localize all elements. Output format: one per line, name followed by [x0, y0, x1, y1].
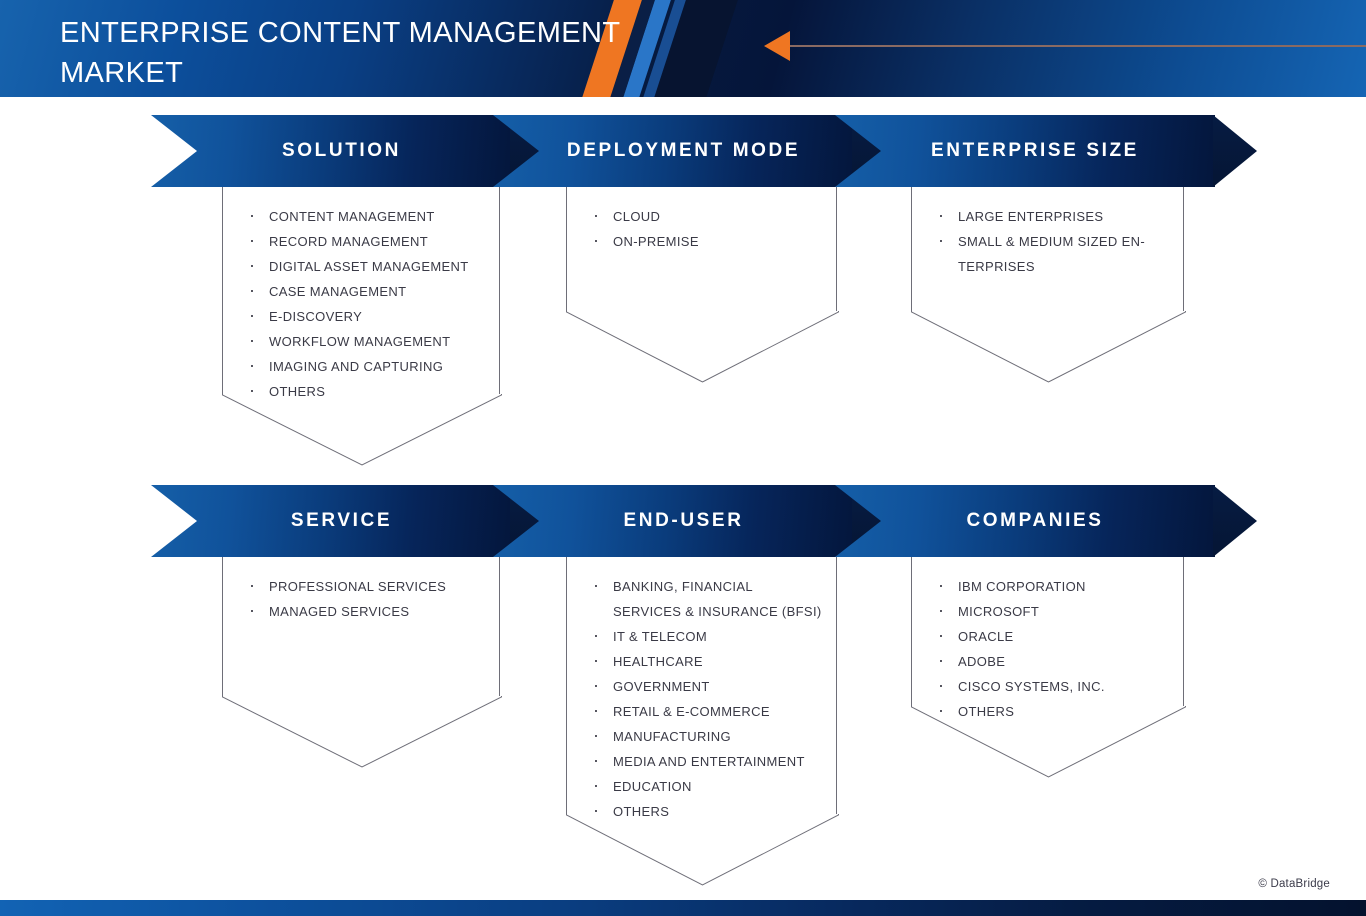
panel-chevron-bottom: [222, 394, 500, 466]
category-banner-deployment[interactable]: DEPLOYMENT MODE: [493, 115, 854, 187]
list-item: CLOUD: [591, 204, 822, 229]
list-item: CASE MANAGEMENT: [247, 279, 485, 304]
category-banner-enterprise-size[interactable]: ENTERPRISE SIZE: [835, 115, 1215, 187]
category-title: DEPLOYMENT MODE: [493, 115, 854, 187]
list-item: RECORD MANAGEMENT: [247, 229, 485, 254]
panel-chevron-bottom: [566, 311, 837, 383]
list-item: ADOBE: [936, 649, 1169, 674]
panel-chevron-bottom: [911, 706, 1184, 778]
list-item: IBM CORPORATION: [936, 574, 1169, 599]
copyright-label: © DataBridge: [1258, 878, 1330, 890]
list-item: WORKFLOW MANAGEMENT: [247, 329, 485, 354]
category-block-solution: SOLUTION CONTENT MANAGEMENT RECORD MANAG…: [151, 115, 512, 394]
category-panel: PROFESSIONAL SERVICES MANAGED SERVICES: [222, 557, 500, 696]
list-item: IT & TELECOM: [591, 624, 822, 649]
category-title: SERVICE: [151, 485, 512, 557]
footer-bar: [0, 900, 1366, 916]
list-item: ON-PREMISE: [591, 229, 822, 254]
list-item: E-DISCOVERY: [247, 304, 485, 329]
list-item: HEALTHCARE: [591, 649, 822, 674]
list-item: GOVERNMENT: [591, 674, 822, 699]
category-block-enterprise-size: ENTERPRISE SIZE LARGE ENTERPRISES SMALL …: [835, 115, 1215, 311]
category-block-deployment: DEPLOYMENT MODE CLOUD ON-PREMISE: [493, 115, 854, 311]
category-banner-solution[interactable]: SOLUTION: [151, 115, 512, 187]
list-item: CISCO SYSTEMS, INC.: [936, 674, 1169, 699]
category-banner-companies[interactable]: COMPANIES: [835, 485, 1215, 557]
panel-chevron-bottom: [911, 311, 1184, 383]
list-item: MANAGED SERVICES: [247, 599, 485, 624]
panel-chevron-bottom: [566, 814, 837, 886]
category-list: CONTENT MANAGEMENT RECORD MANAGEMENT DIG…: [223, 187, 499, 404]
list-item: EDUCATION: [591, 774, 822, 799]
list-item: PROFESSIONAL SERVICES: [247, 574, 485, 599]
left-arrow-icon: [764, 31, 790, 61]
banner-arrow-tip: [1213, 115, 1257, 187]
category-list: BANKING, FINANCIAL SERVICES & INSURANCE …: [567, 557, 836, 824]
category-panel: IBM CORPORATION MICROSOFT ORACLE ADOBE C…: [911, 557, 1184, 706]
list-item: SMALL & MEDIUM SIZED EN-TERPRISES: [936, 229, 1169, 279]
category-list: LARGE ENTERPRISES SMALL & MEDIUM SIZED E…: [912, 187, 1183, 279]
header-arrow-line: [790, 45, 1366, 47]
category-title: END-USER: [493, 485, 854, 557]
list-item: MEDIA AND ENTERTAINMENT: [591, 749, 822, 774]
list-item: LARGE ENTERPRISES: [936, 204, 1169, 229]
panel-chevron-bottom: [222, 696, 500, 768]
category-list: CLOUD ON-PREMISE: [567, 187, 836, 254]
list-item: RETAIL & E-COMMERCE: [591, 699, 822, 724]
banner-arrow-tip: [1213, 485, 1257, 557]
page-title: ENTERPRISE CONTENT MANAGEMENT MARKET: [60, 13, 680, 93]
list-item: MICROSOFT: [936, 599, 1169, 624]
category-block-companies: COMPANIES IBM CORPORATION MICROSOFT ORAC…: [835, 485, 1215, 706]
category-panel: CONTENT MANAGEMENT RECORD MANAGEMENT DIG…: [222, 187, 500, 394]
category-panel: BANKING, FINANCIAL SERVICES & INSURANCE …: [566, 557, 837, 814]
category-title: COMPANIES: [835, 485, 1215, 557]
category-banner-service[interactable]: SERVICE: [151, 485, 512, 557]
list-item: IMAGING AND CAPTURING: [247, 354, 485, 379]
category-banner-end-user[interactable]: END-USER: [493, 485, 854, 557]
list-item: CONTENT MANAGEMENT: [247, 204, 485, 229]
list-item: BANKING, FINANCIAL SERVICES & INSURANCE …: [591, 574, 822, 624]
category-panel: LARGE ENTERPRISES SMALL & MEDIUM SIZED E…: [911, 187, 1184, 311]
list-item: ORACLE: [936, 624, 1169, 649]
category-title: ENTERPRISE SIZE: [835, 115, 1215, 187]
page-header: ENTERPRISE CONTENT MANAGEMENT MARKET: [0, 0, 1366, 97]
category-block-service: SERVICE PROFESSIONAL SERVICES MANAGED SE…: [151, 485, 512, 696]
category-list: IBM CORPORATION MICROSOFT ORACLE ADOBE C…: [912, 557, 1183, 724]
list-item: MANUFACTURING: [591, 724, 822, 749]
category-block-end-user: END-USER BANKING, FINANCIAL SERVICES & I…: [493, 485, 854, 814]
list-item: DIGITAL ASSET MANAGEMENT: [247, 254, 485, 279]
category-list: PROFESSIONAL SERVICES MANAGED SERVICES: [223, 557, 499, 624]
category-panel: CLOUD ON-PREMISE: [566, 187, 837, 311]
category-title: SOLUTION: [151, 115, 512, 187]
